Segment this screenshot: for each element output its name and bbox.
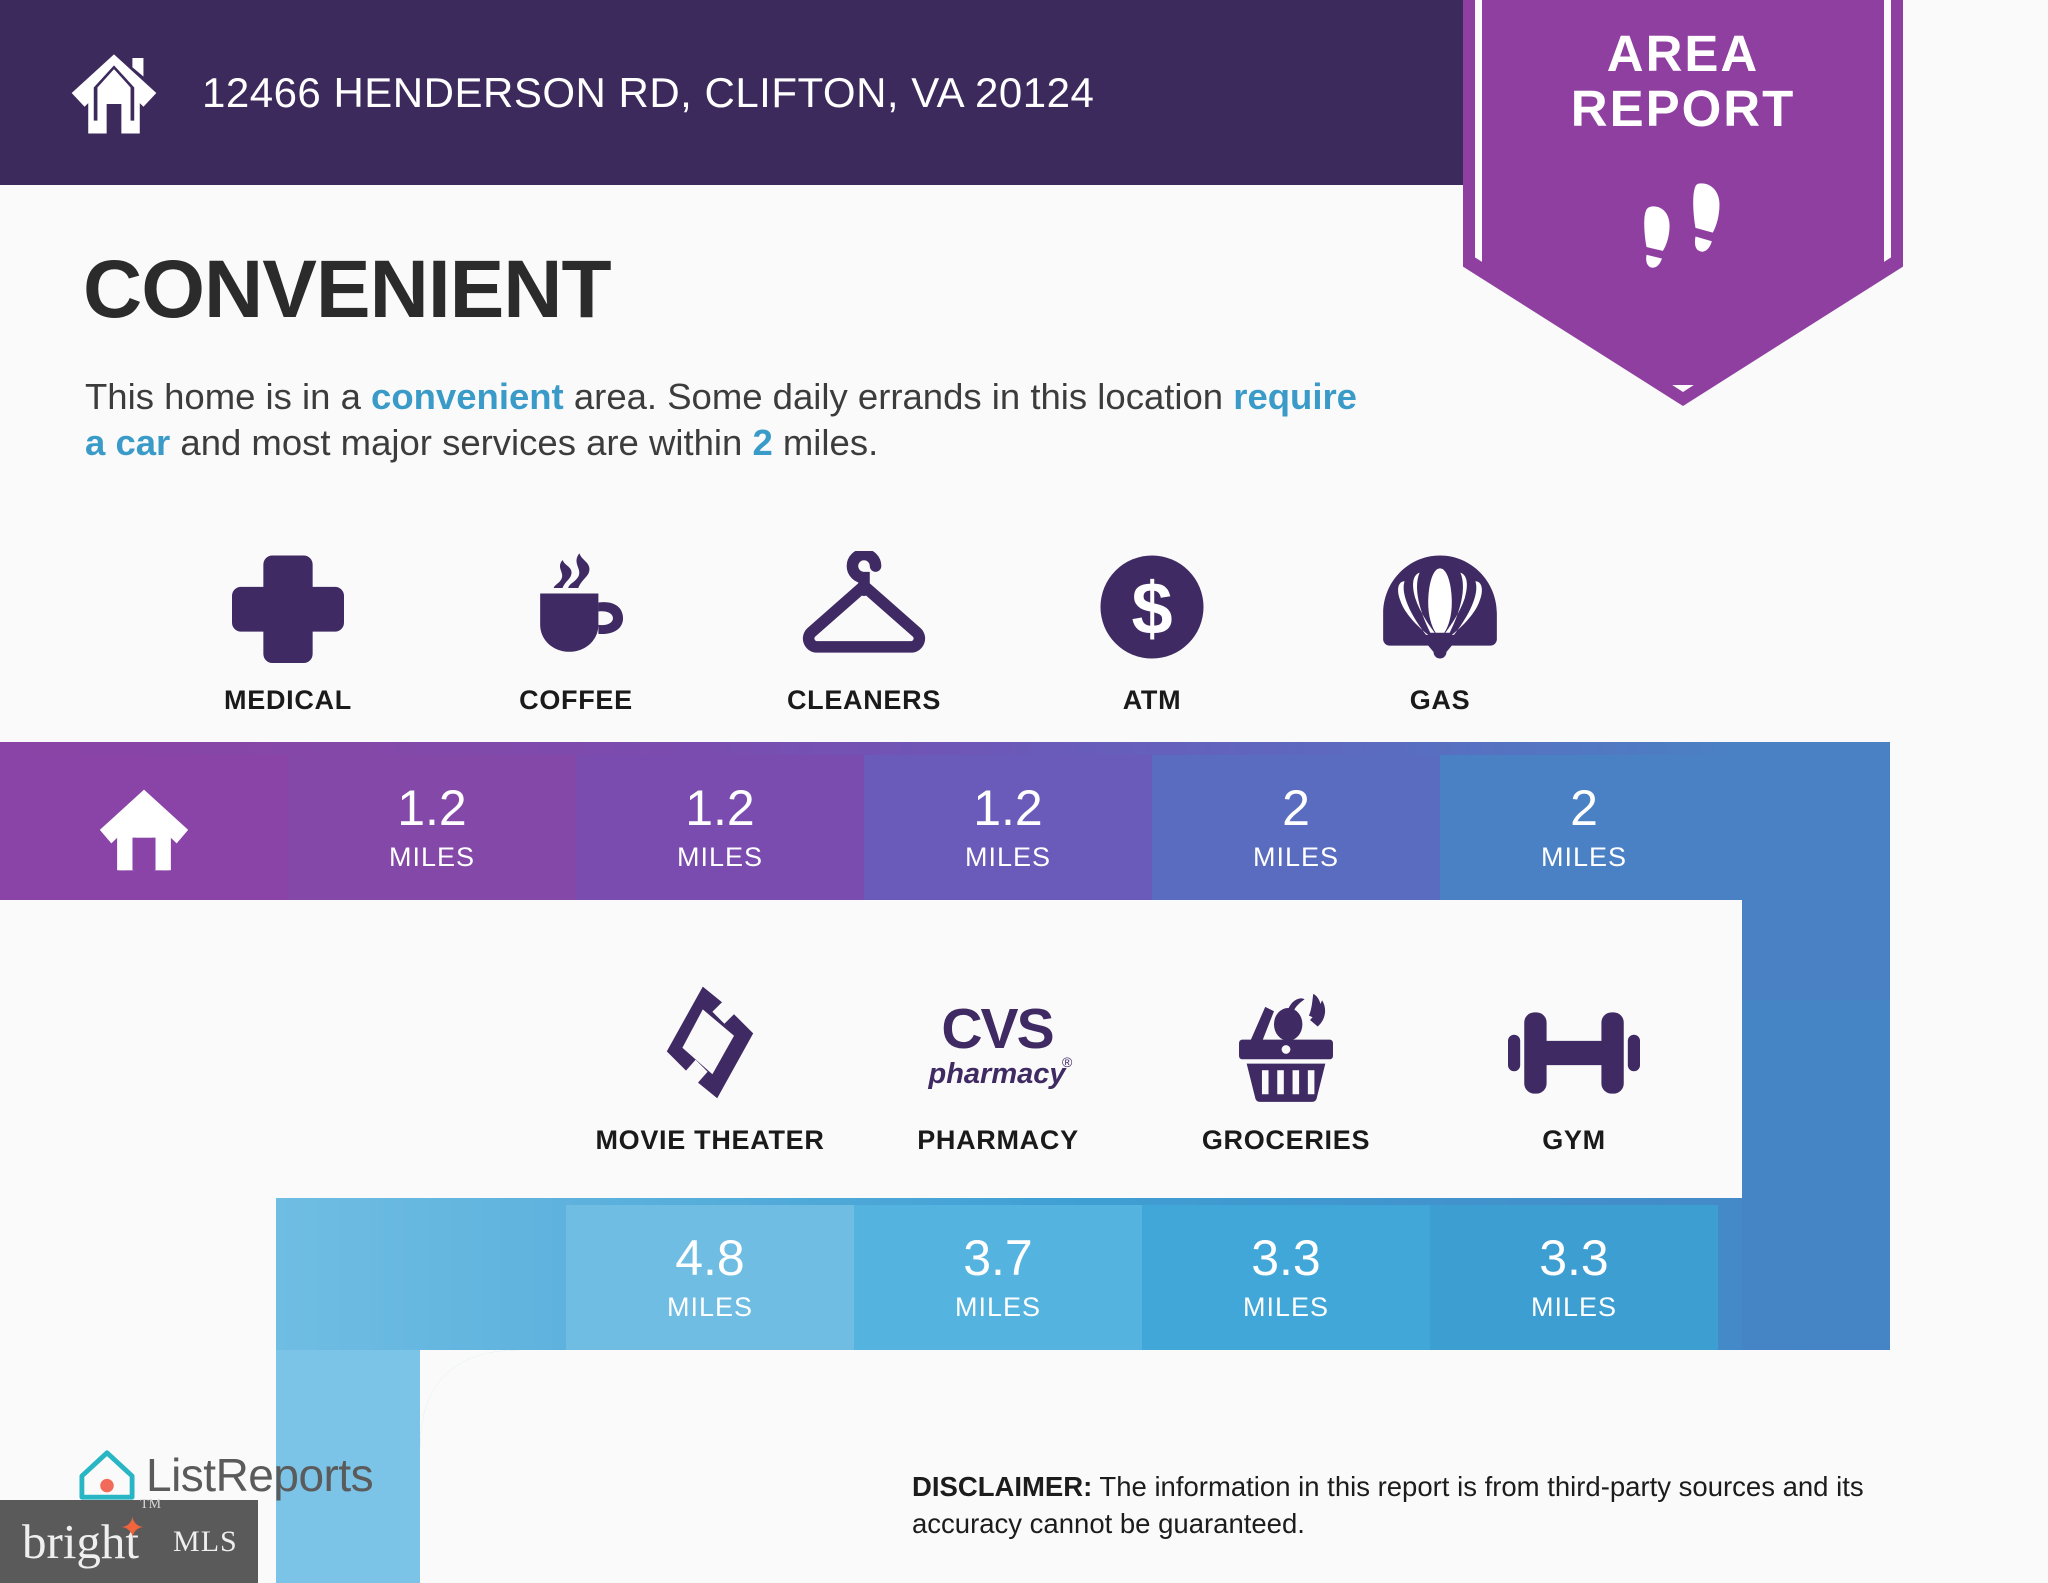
- bright-star-icon: ✦: [120, 1511, 145, 1546]
- listreports-name: ListReports: [146, 1448, 373, 1502]
- distance-value: 4.8: [675, 1233, 745, 1283]
- disclaimer: DISCLAIMER: The information in this repo…: [912, 1469, 1977, 1542]
- distance-unit: MILES: [667, 1292, 753, 1323]
- distance-cell-coffee: 1.2 MILES: [576, 755, 864, 900]
- distance-unit: MILES: [1243, 1292, 1329, 1323]
- distance-unit: MILES: [955, 1292, 1041, 1323]
- disclaimer-label: DISCLAIMER:: [912, 1471, 1092, 1502]
- distance-value: 1.2: [397, 783, 467, 833]
- home-icon: [96, 780, 192, 876]
- distance-unit: MILES: [677, 842, 763, 873]
- badge-title: AREA REPORT: [1463, 26, 1903, 136]
- distance-value: 2: [1570, 783, 1598, 833]
- distance-cell-atm: 2 MILES: [1152, 755, 1440, 900]
- badge-line-2: REPORT: [1463, 81, 1903, 136]
- distance-unit: MILES: [965, 842, 1051, 873]
- distance-cell-medical: 1.2 MILES: [288, 755, 576, 900]
- distance-cell-gym: 3.3 MILES: [1430, 1205, 1718, 1350]
- distance-cell-gas: 2 MILES: [1440, 755, 1728, 900]
- bright-tm-mark: TM: [140, 1497, 161, 1513]
- distance-value: 3.3: [1251, 1233, 1321, 1283]
- bright-mls-logo: bright ✦ TM MLS: [0, 1500, 258, 1583]
- distance-unit: MILES: [1541, 842, 1627, 873]
- listreports-logo: ListReports: [78, 1447, 373, 1503]
- distance-value: 1.2: [973, 783, 1043, 833]
- listreports-house-icon: [78, 1447, 136, 1503]
- distance-unit: MILES: [1253, 842, 1339, 873]
- distance-value: 3.7: [963, 1233, 1033, 1283]
- distance-value: 3.3: [1539, 1233, 1609, 1283]
- distance-cell-cleaners: 1.2 MILES: [864, 755, 1152, 900]
- bright-mls-text: MLS: [173, 1525, 238, 1559]
- footprints-icon: [1635, 174, 1731, 274]
- distance-cell-movie-theater: 4.8 MILES: [566, 1205, 854, 1350]
- distance-value: 1.2: [685, 783, 755, 833]
- area-report-page: 12466 HENDERSON RD, CLIFTON, VA 20124 AR…: [0, 0, 2048, 1583]
- bright-wordmark: bright ✦ TM: [22, 1513, 139, 1570]
- distance-unit: MILES: [389, 842, 475, 873]
- distance-cell-pharmacy: 3.7 MILES: [854, 1205, 1142, 1350]
- badge-line-1: AREA: [1463, 26, 1903, 81]
- home-marker-cell: [0, 755, 288, 900]
- distance-cell-groceries: 3.3 MILES: [1142, 1205, 1430, 1350]
- distance-unit: MILES: [1531, 1292, 1617, 1323]
- distance-value: 2: [1282, 783, 1310, 833]
- distance-cell-layer: 1.2 MILES 1.2 MILES 1.2 MILES 2 MILES 2 …: [0, 0, 2048, 1583]
